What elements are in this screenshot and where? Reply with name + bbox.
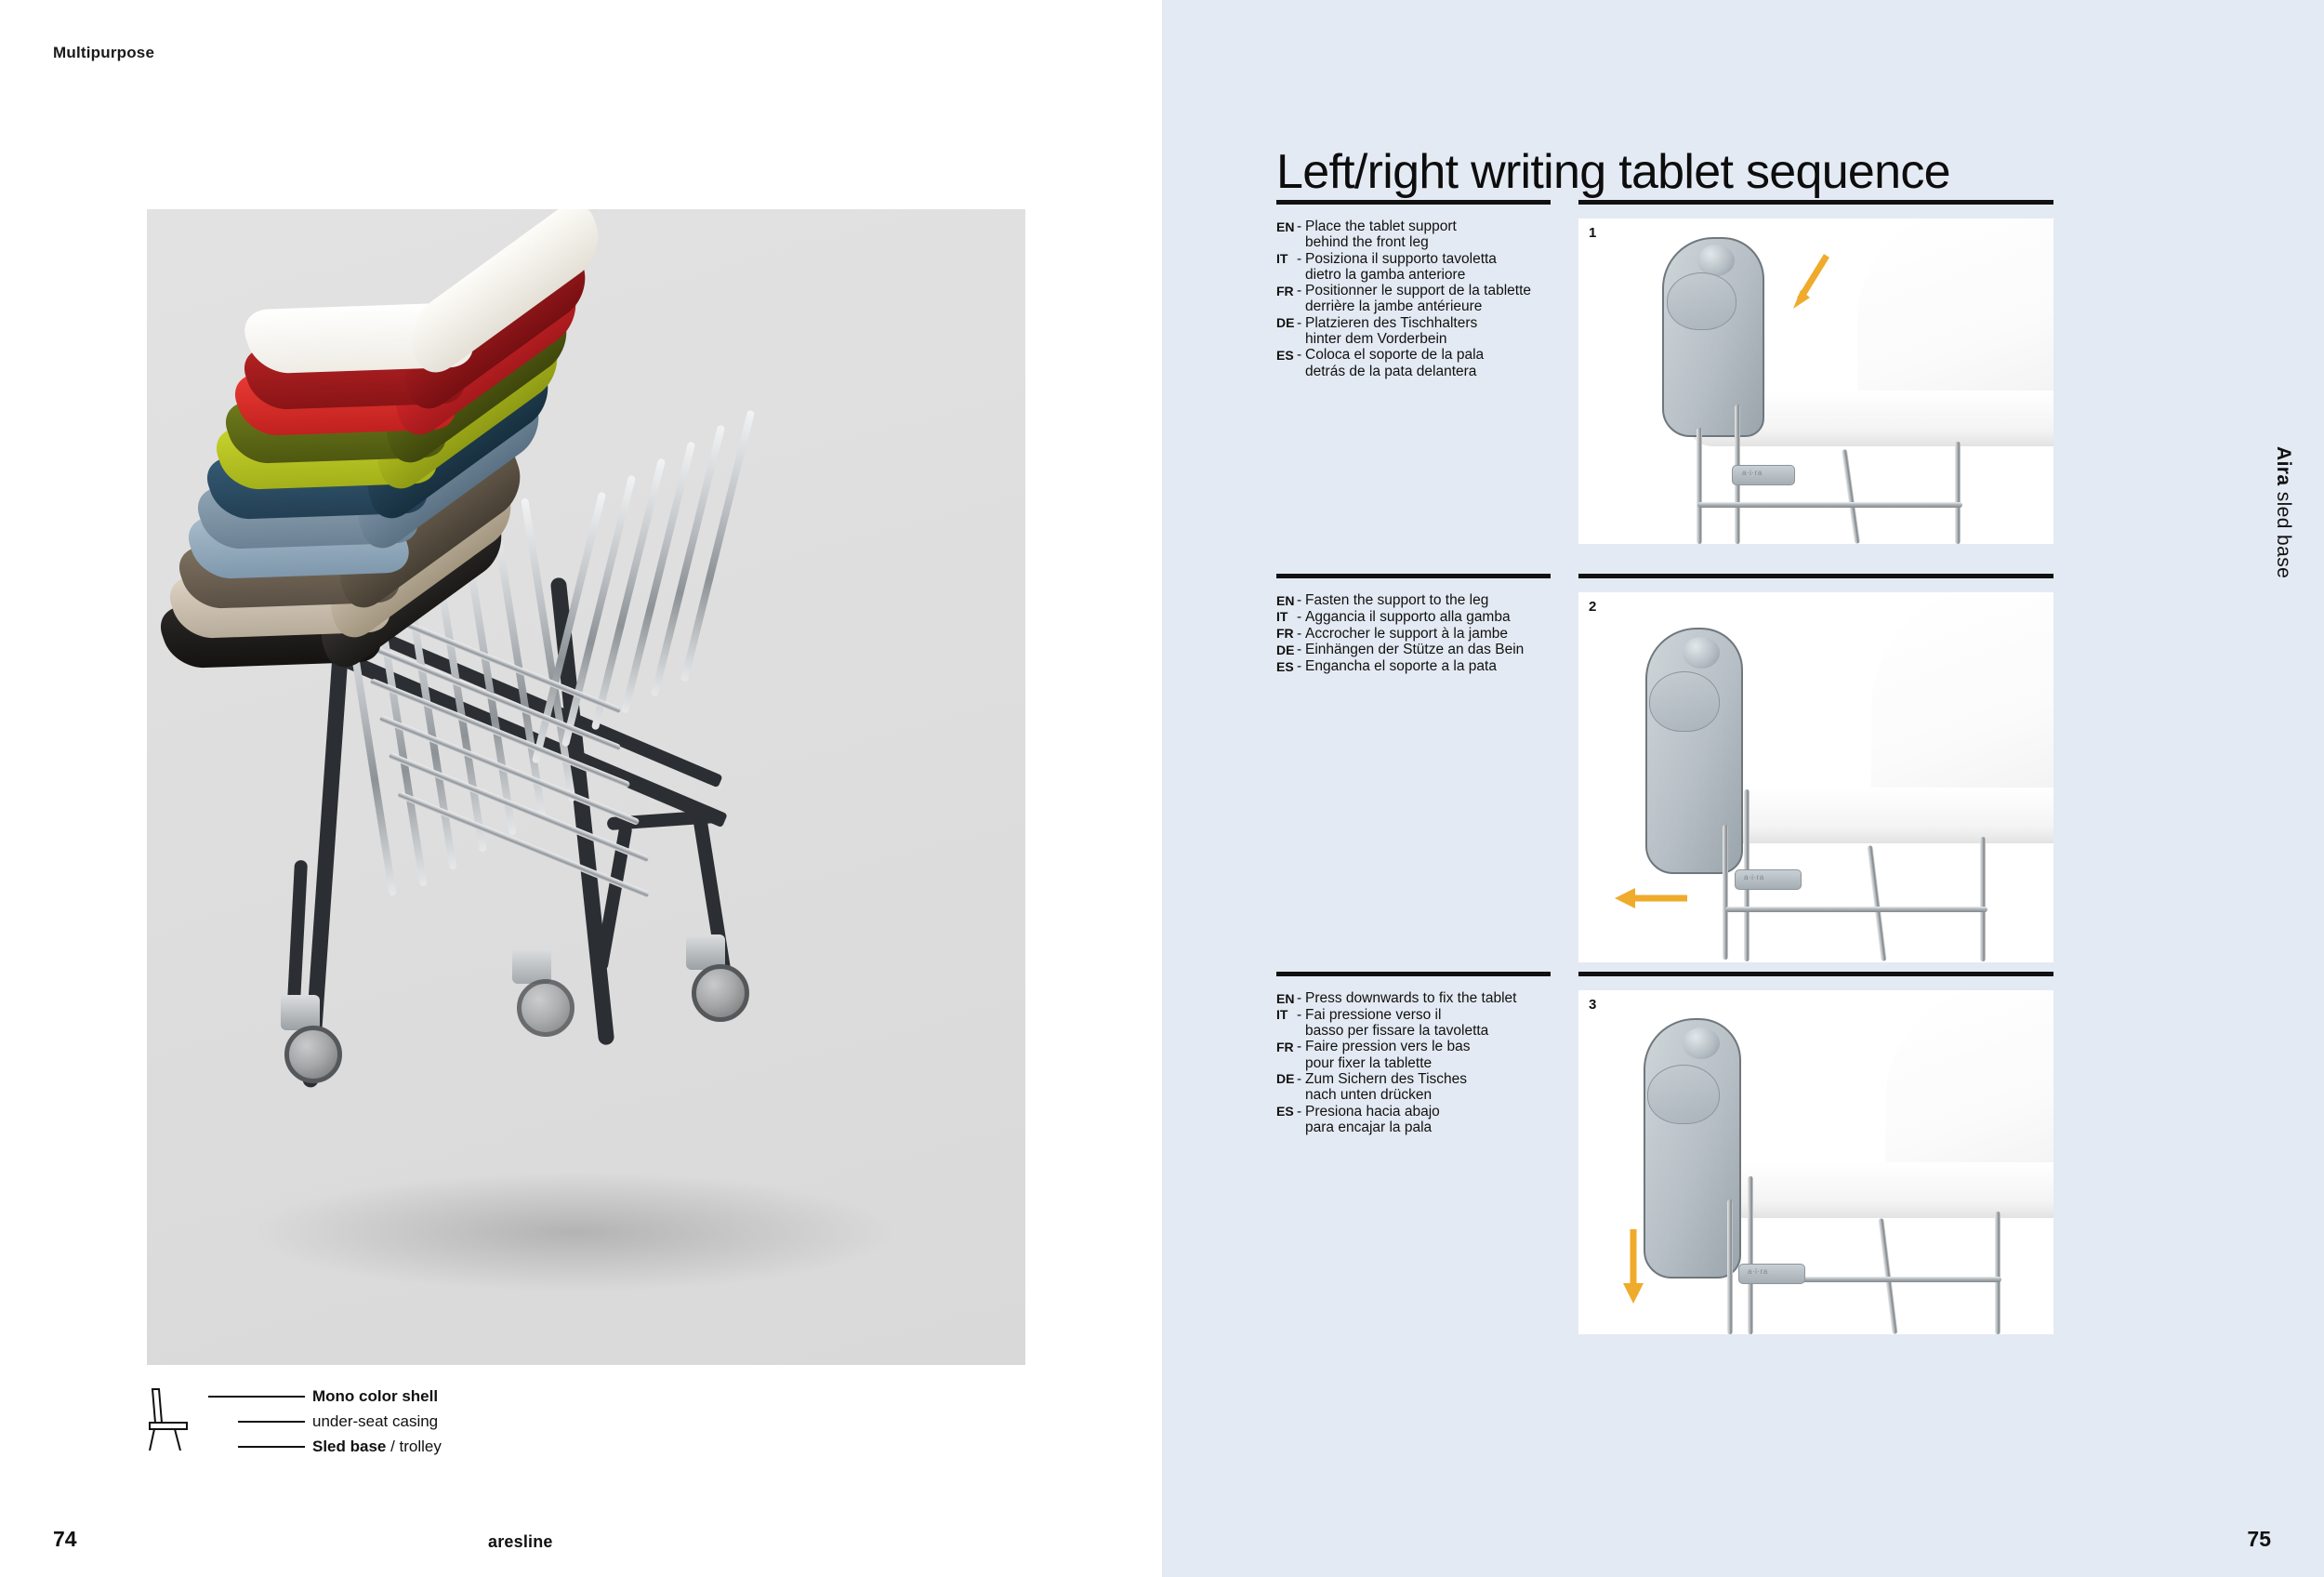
product-photo-stacked-chairs [147,209,1025,1365]
chair-leg [1955,442,1961,544]
chair-cross-rail [1725,907,1987,912]
language-code: DE [1276,315,1297,348]
chair-backrest [1871,592,2053,815]
instruction-line: EN - Fasten the support to the leg [1276,592,1560,609]
language-code: ES [1276,658,1297,675]
legend-label: under-seat casing [312,1412,438,1431]
instruction-line: IT - Aggancia il supporto alla gamba [1276,609,1560,626]
tablet-knob [1697,245,1735,276]
block3-rule-right [1578,972,2053,976]
chair-cross-rail [1697,502,1962,508]
language-code: ES [1276,1104,1297,1136]
tablet-plate [1649,671,1720,732]
title-rule-right [1578,200,2053,205]
instruction-text: Accrocher le support à la jambe [1305,626,1508,643]
dash: - [1297,626,1305,643]
bracket-label: a·i·ra [1744,873,1764,881]
chair-leg [1842,449,1860,544]
tablet-knob [1683,637,1720,669]
instruction-text: Platzieren des Tischhalters hinter dem V… [1305,315,1477,348]
chair-seat [1709,788,2053,843]
instruction-line: FR - Faire pression vers le bas pour fix… [1276,1039,1560,1071]
language-code: FR [1276,626,1297,643]
instruction-line: ES - Engancha el soporte a la pata [1276,658,1560,675]
dash: - [1297,347,1305,379]
chair-leg [1723,825,1728,960]
right-page: Left/right writing tablet sequence EN - … [1162,0,2324,1577]
instruction-text: Zum Sichern des Tisches nach unten drück… [1305,1071,1467,1104]
step-photo-2: 2 a·i·ra [1578,592,2053,962]
language-code: IT [1276,609,1297,626]
instruction-line: FR - Positionner le support de la tablet… [1276,283,1560,315]
chair-render: a·i·ra [1578,990,2053,1334]
dash: - [1297,1104,1305,1136]
instruction-text: Fasten the support to the leg [1305,592,1488,609]
block2-rule-right [1578,574,2053,578]
legend-leader-line [208,1396,305,1398]
dash: - [1297,658,1305,675]
step-number: 2 [1589,599,1596,615]
language-code: IT [1276,1007,1297,1040]
page-number-right: 75 [2247,1527,2271,1552]
step-photo-1: 1 a·i·ra [1578,219,2053,544]
dash: - [1297,609,1305,626]
dash: - [1297,1007,1305,1040]
legend-leader-line [238,1421,305,1424]
instruction-text: Presiona hacia abajo para encajar la pal… [1305,1104,1440,1136]
page-title: Left/right writing tablet sequence [1276,144,1950,200]
dash: - [1297,990,1305,1007]
instruction-block-3: EN - Press downwards to fix the tablet I… [1276,990,1560,1135]
chair-leg [1867,845,1886,961]
language-code: DE [1276,642,1297,658]
language-code: ES [1276,347,1297,379]
instruction-line: ES - Presiona hacia abajo para encajar l… [1276,1104,1560,1136]
left-page: Multipurpose [0,0,1162,1577]
page-spread: Multipurpose [0,0,2324,1577]
instruction-line: IT - Posiziona il supporto tavoletta die… [1276,251,1560,284]
page-number-left: 74 [53,1527,77,1552]
chair-leg [1748,1176,1753,1334]
title-rule-left [1276,200,1551,205]
instruction-text: Aggancia il supporto alla gamba [1305,609,1511,626]
step-number: 3 [1589,997,1596,1013]
dash: - [1297,283,1305,315]
legend-leader-line [238,1446,305,1449]
dash: - [1297,1039,1305,1071]
chair-leg [1995,1212,2000,1334]
vertical-product-title: Aira sled base [2272,446,2294,578]
chair-backrest [1885,990,2053,1186]
tablet-plate [1667,272,1736,330]
legend-label: Sled base / trolley [312,1438,442,1456]
arrow-left-icon [1611,885,1690,911]
tablet-knob [1683,1027,1720,1059]
language-code: EN [1276,219,1297,251]
dash: - [1297,1071,1305,1104]
bracket-label: a·i·ra [1748,1267,1768,1276]
instruction-text: Engancha el soporte a la pata [1305,658,1497,675]
instruction-text: Posiziona il supporto tavoletta dietro l… [1305,251,1497,284]
instruction-block-1: EN - Place the tablet support behind the… [1276,219,1560,379]
arrow-diagonal-down-left-icon [1788,251,1834,316]
instruction-line: IT - Fai pressione verso il basso per fi… [1276,1007,1560,1040]
instruction-text: Fai pressione verso il basso per fissare… [1305,1007,1488,1040]
block2-rule-left [1276,574,1551,578]
block3-rule-left [1276,972,1551,976]
step-number: 1 [1589,225,1596,241]
dash: - [1297,592,1305,609]
instruction-line: DE - Einhängen der Stütze an das Bein [1276,642,1560,658]
language-code: FR [1276,283,1297,315]
instruction-line: DE - Platzieren des Tischhalters hinter … [1276,315,1560,348]
instruction-text: Positionner le support de la tablette de… [1305,283,1531,315]
instruction-line: DE - Zum Sichern des Tisches nach unten … [1276,1071,1560,1104]
chair-shell-stack [147,209,1025,1365]
instruction-line: ES - Coloca el soporte de la pala detrás… [1276,347,1560,379]
chair-seat [1718,1162,2053,1218]
instruction-text: Einhängen der Stütze an das Bein [1305,642,1524,658]
language-code: EN [1276,592,1297,609]
language-code: FR [1276,1039,1297,1071]
instruction-text: Coloca el soporte de la pala detrás de l… [1305,347,1484,379]
step-photo-3: 3 a·i·ra [1578,990,2053,1334]
arrow-down-icon [1620,1227,1646,1306]
bracket-label: a·i·ra [1742,469,1763,477]
instruction-line: EN - Place the tablet support behind the… [1276,219,1560,251]
brand-logo: aresline [488,1532,553,1552]
dash: - [1297,315,1305,348]
instruction-text: Faire pression vers le bas pour fixer la… [1305,1039,1470,1071]
dash: - [1297,219,1305,251]
dash: - [1297,642,1305,658]
language-code: IT [1276,251,1297,284]
instruction-text: Press downwards to fix the tablet [1305,990,1516,1007]
chair-leg [1727,1199,1733,1334]
instruction-line: FR - Accrocher le support à la jambe [1276,626,1560,643]
instruction-line: EN - Press downwards to fix the tablet [1276,990,1560,1007]
section-label: Multipurpose [53,44,154,62]
dash: - [1297,251,1305,284]
chair-leg [1697,428,1702,544]
legend-row: Sled base / trolley [208,1438,442,1456]
language-code: EN [1276,990,1297,1007]
chair-outline-icon [147,1385,205,1451]
legend: Mono color shell under-seat casing Sled … [147,1385,537,1460]
legend-row: under-seat casing [208,1412,438,1431]
tablet-plate [1647,1065,1720,1124]
legend-row: Mono color shell [208,1387,438,1406]
instruction-text: Place the tablet support behind the fron… [1305,219,1457,251]
chair-leg [1980,837,1986,961]
instruction-block-2: EN - Fasten the support to the leg IT - … [1276,592,1560,675]
language-code: DE [1276,1071,1297,1104]
legend-label: Mono color shell [312,1387,438,1406]
